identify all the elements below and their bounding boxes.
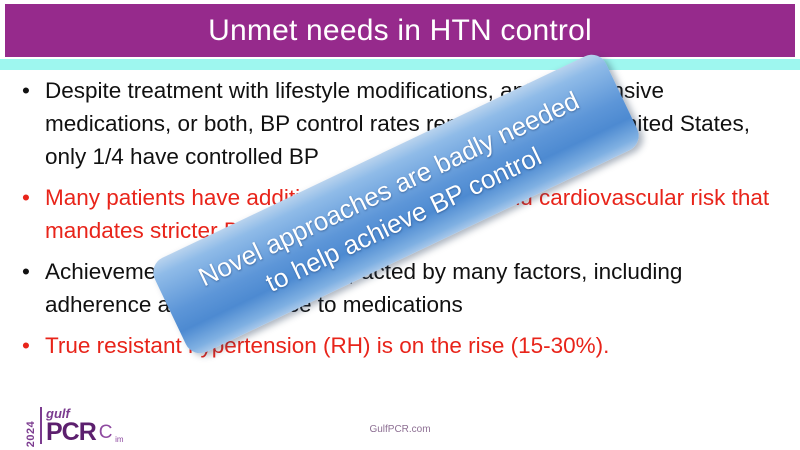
logo-c-letter: C	[99, 423, 113, 442]
accent-strip	[0, 59, 800, 70]
logo-year: 2024	[25, 420, 37, 448]
bullet-marker-icon: •	[22, 255, 36, 288]
gulfpcr-logo: 2024 gulf PCR C im	[17, 404, 135, 446]
slide-title-bar: Unmet needs in HTN control	[4, 3, 796, 58]
bullet-marker-icon: •	[22, 74, 36, 107]
logo-pcr-text: PCR	[46, 420, 96, 444]
bullet-marker-icon: •	[22, 181, 36, 214]
list-item: • True resistant hypertension (RH) is on…	[0, 329, 800, 362]
page-title: Unmet needs in HTN control	[208, 14, 592, 48]
spacer	[0, 321, 800, 329]
slide-canvas: Unmet needs in HTN control • Despite tre…	[0, 0, 800, 450]
logo-c-mark-icon: C im	[99, 423, 113, 443]
list-item: • Achievement of BP goals is impacted by…	[0, 255, 800, 321]
logo-wordmark: gulf PCR C im	[40, 407, 113, 444]
list-item-text: True resistant hypertension (RH) is on t…	[45, 333, 609, 358]
logo-im-suffix: im	[115, 435, 123, 444]
bullet-marker-icon: •	[22, 329, 36, 362]
logo-pcr-row: PCR C im	[46, 420, 113, 444]
